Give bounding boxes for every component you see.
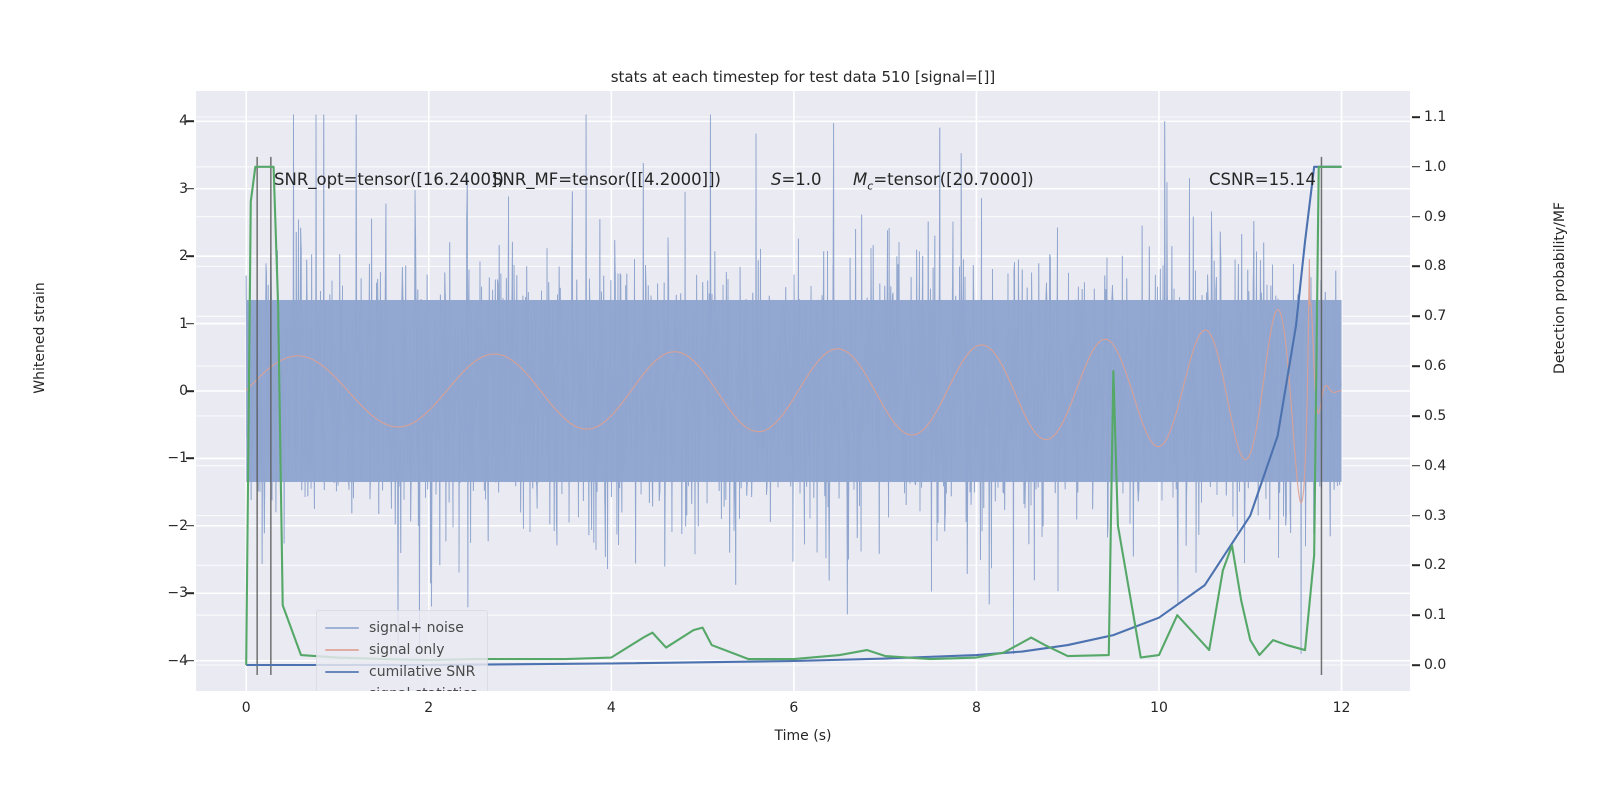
legend-label: signal statistics (369, 686, 477, 691)
y-tick-right-0.3: 0.3 (1424, 508, 1484, 524)
x-axis-label: Time (s) (196, 728, 1410, 744)
legend-swatch-icon (325, 649, 359, 652)
x-tick-6: 6 (764, 700, 824, 716)
legend-swatch-icon (325, 627, 359, 630)
y-tickmark-left (186, 525, 194, 527)
annotation-s: S=1.0 (771, 170, 822, 189)
y-tickmark-left (186, 255, 194, 257)
legend-label: cumilative SNR (369, 664, 475, 680)
y-tick-left-4: 4 (128, 113, 188, 129)
y-tick-right-0.4: 0.4 (1424, 458, 1484, 474)
legend-item-0[interactable]: signal+ noise (325, 617, 477, 639)
y-tick-right-0.6: 0.6 (1424, 358, 1484, 374)
annotation-chirp-mass: Mc=tensor([20.7000]) (853, 170, 1034, 192)
y-tickmark-left (186, 323, 194, 325)
y-tickmark-right (1412, 266, 1420, 268)
y-tickmark-right (1412, 515, 1420, 517)
legend-item-1[interactable]: signal only (325, 639, 477, 661)
x-tick-10: 10 (1129, 700, 1189, 716)
y-tick-left-neg3: −3 (128, 585, 188, 601)
y-tickmark-right (1412, 216, 1420, 218)
y-tickmark-right (1412, 315, 1420, 317)
chart-title: stats at each timestep for test data 510… (196, 68, 1410, 86)
y-tick-right-0.2: 0.2 (1424, 557, 1484, 573)
y-tick-left-neg2: −2 (128, 518, 188, 534)
y-tickmark-right (1412, 365, 1420, 367)
legend-swatch-icon (325, 671, 359, 674)
y-tick-right-0.8: 0.8 (1424, 258, 1484, 274)
y-tickmark-left (186, 660, 194, 662)
y-tickmark-right (1412, 614, 1420, 616)
y-tickmark-left (186, 390, 194, 392)
y-tickmark-right (1412, 166, 1420, 168)
legend-item-3[interactable]: signal statistics (325, 683, 477, 691)
legend-item-2[interactable]: cumilative SNR (325, 661, 477, 683)
y-tick-left-3: 3 (128, 181, 188, 197)
y-tickmark-right (1412, 565, 1420, 567)
y-tickmark-left (186, 458, 194, 460)
y-axis-left-label: Whitened strain (32, 238, 48, 438)
y-tick-left-1: 1 (128, 316, 188, 332)
y-tickmark-left (186, 188, 194, 190)
legend-label: signal+ noise (369, 620, 464, 636)
y-tickmark-left (186, 121, 194, 123)
annotation-csnr: CSNR=15.14 (1209, 170, 1316, 189)
annotation-snr-mf: SNR_MF=tensor([[4.2000]]) (492, 170, 721, 189)
y-tick-right-1.1: 1.1 (1424, 109, 1484, 125)
y-tick-left-neg4: −4 (128, 653, 188, 669)
y-tickmark-left (186, 592, 194, 594)
y-tick-left-2: 2 (128, 248, 188, 264)
y-tick-left-neg1: −1 (128, 450, 188, 466)
y-tick-right-0.5: 0.5 (1424, 408, 1484, 424)
y-tickmark-right (1412, 465, 1420, 467)
y-tick-right-0.1: 0.1 (1424, 607, 1484, 623)
x-tick-4: 4 (581, 700, 641, 716)
y-axis-right-label: Detection probability/MF (1552, 128, 1568, 448)
x-tick-2: 2 (399, 700, 459, 716)
y-tick-right-0.9: 0.9 (1424, 209, 1484, 225)
x-tick-8: 8 (946, 700, 1006, 716)
y-tick-right-0.7: 0.7 (1424, 308, 1484, 324)
x-tick-12: 12 (1312, 700, 1372, 716)
y-tick-left-0: 0 (128, 383, 188, 399)
legend[interactable]: signal+ noisesignal onlycumilative SNRsi… (316, 610, 488, 691)
x-tick-0: 0 (216, 700, 276, 716)
figure-canvas: stats at each timestep for test data 510… (0, 0, 1600, 800)
y-tick-right-0.0: 0.0 (1424, 657, 1484, 673)
legend-label: signal only (369, 642, 444, 658)
annotation-snr-opt: SNR_opt=tensor([16.2400]) (274, 170, 504, 189)
y-tickmark-right (1412, 116, 1420, 118)
y-tick-right-1.0: 1.0 (1424, 159, 1484, 175)
plot-area: SNR_opt=tensor([16.2400]) SNR_MF=tensor(… (196, 91, 1410, 691)
y-tickmark-right (1412, 415, 1420, 417)
y-tickmark-right (1412, 664, 1420, 666)
